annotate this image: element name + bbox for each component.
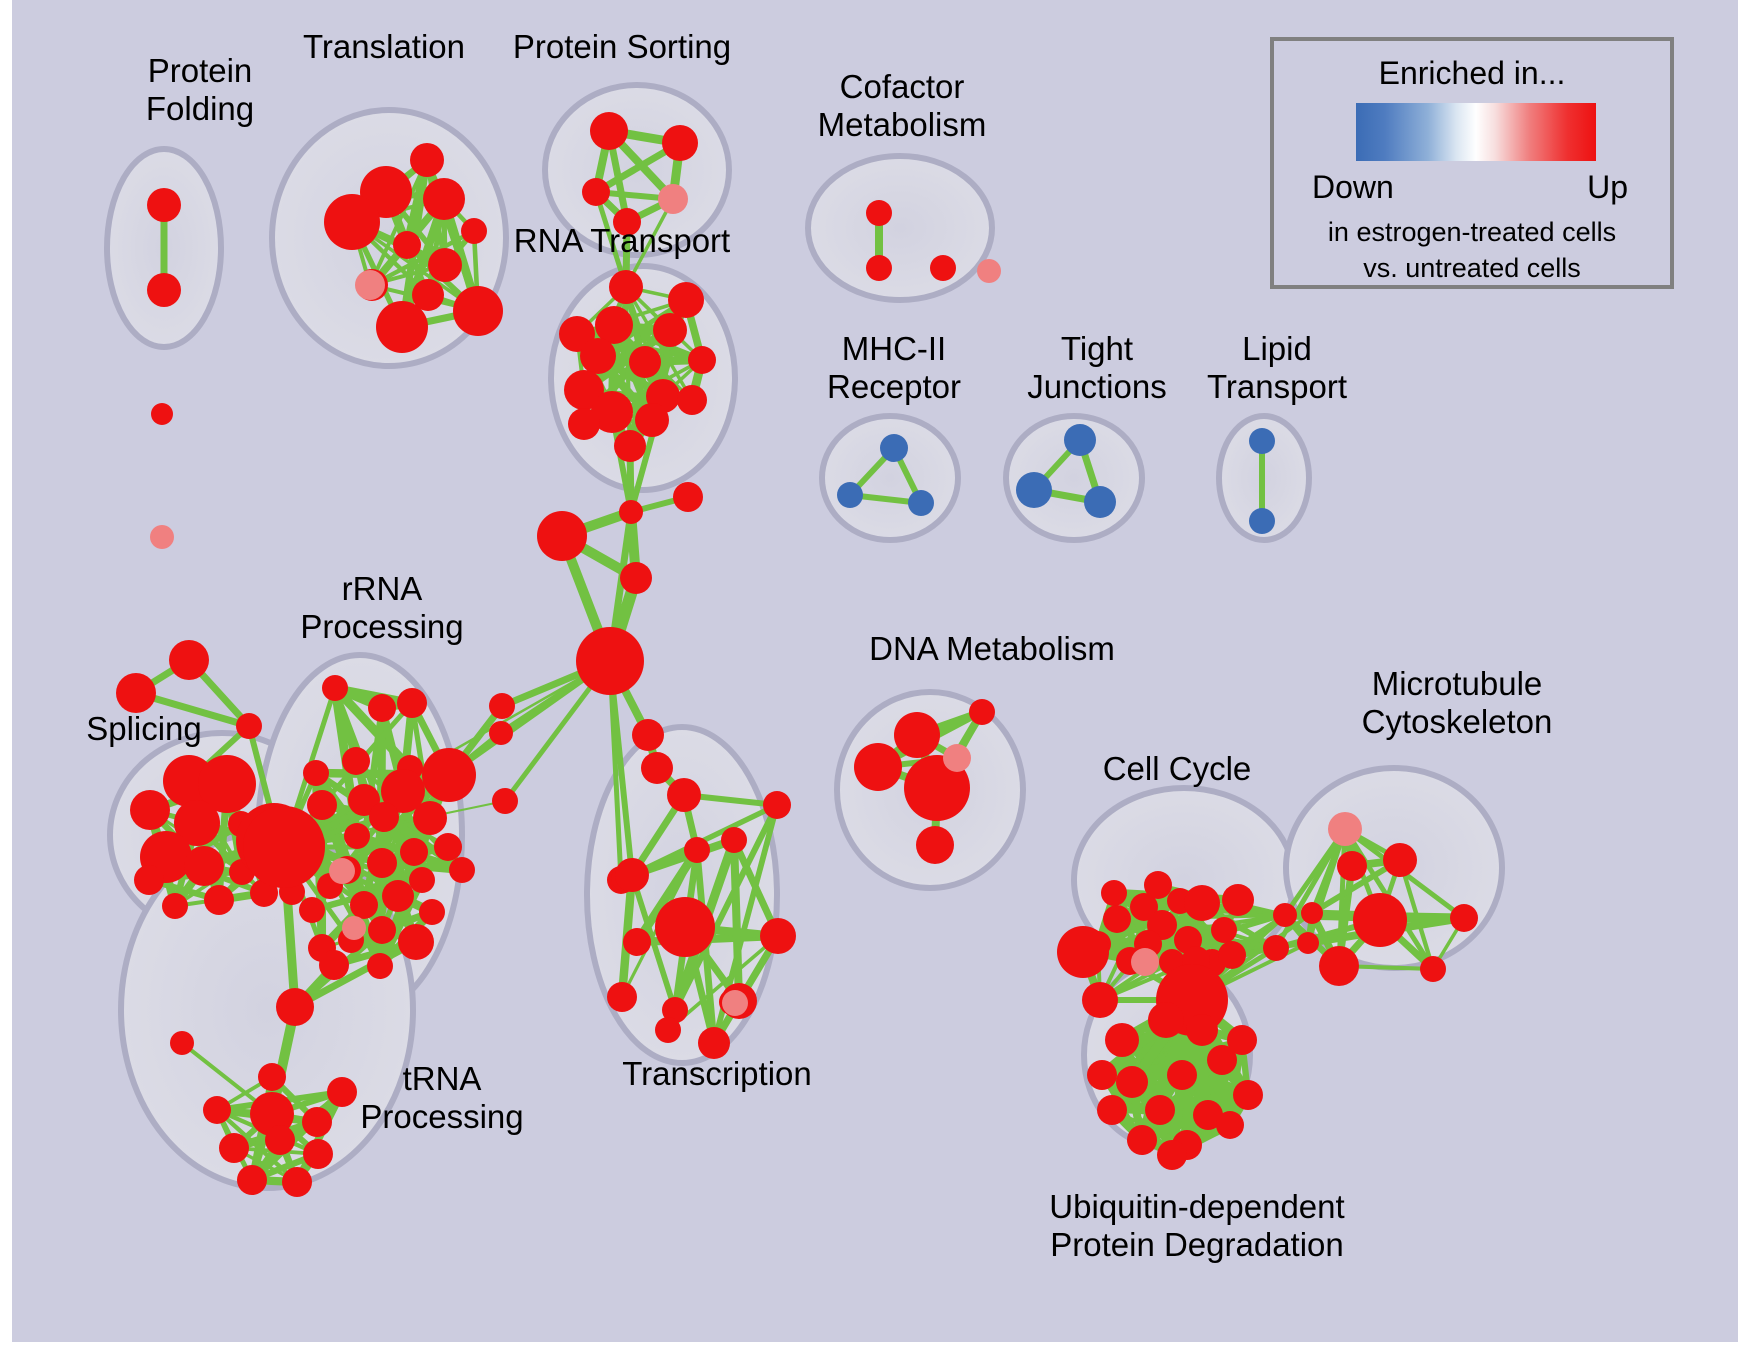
- network-node: [423, 178, 465, 220]
- network-node: [492, 788, 518, 814]
- network-node: [1263, 935, 1289, 961]
- network-node: [1084, 486, 1116, 518]
- network-node: [662, 125, 698, 161]
- color-scale-bar: [1356, 103, 1596, 161]
- network-node: [1103, 905, 1131, 933]
- network-node: [854, 743, 902, 791]
- network-node: [1233, 1080, 1263, 1110]
- network-node: [576, 627, 644, 695]
- cluster-label-cell-cycle: Cell Cycle: [1052, 750, 1302, 788]
- network-node: [382, 880, 414, 912]
- network-node: [1420, 956, 1446, 982]
- network-node: [1087, 1060, 1117, 1090]
- network-node: [1211, 917, 1237, 943]
- network-node: [422, 748, 476, 802]
- network-node: [655, 1017, 681, 1043]
- network-node: [582, 178, 610, 206]
- cluster-label-protein-sorting: Protein Sorting: [452, 28, 792, 66]
- network-node: [1353, 893, 1407, 947]
- network-node: [632, 719, 664, 751]
- network-node: [1057, 926, 1109, 978]
- network-node: [1319, 946, 1359, 986]
- network-node: [1127, 1125, 1157, 1155]
- network-node: [489, 693, 515, 719]
- network-node: [1301, 902, 1323, 924]
- network-node: [620, 562, 652, 594]
- network-node: [837, 482, 863, 508]
- network-node: [1218, 941, 1246, 969]
- network-node: [147, 273, 181, 307]
- legend-down-label: Down: [1312, 169, 1394, 206]
- network-node: [623, 928, 651, 956]
- network-node: [258, 1063, 286, 1091]
- cluster-label-splicing: Splicing: [54, 710, 234, 748]
- network-node: [977, 259, 1001, 283]
- network-node: [1273, 903, 1297, 927]
- network-node: [969, 699, 995, 725]
- network-node: [344, 823, 370, 849]
- network-node: [1144, 871, 1172, 899]
- cluster-label-rrna-processing: rRNA Processing: [252, 570, 512, 646]
- network-node: [1082, 982, 1118, 1018]
- network-node: [265, 1125, 295, 1155]
- network-node: [400, 838, 428, 866]
- cluster-cofactor-metabolism: [808, 156, 992, 300]
- network-node: [369, 802, 399, 832]
- network-node: [763, 791, 791, 819]
- network-node: [619, 500, 643, 524]
- cluster-label-cofactor-metabolism: Cofactor Metabolism: [752, 68, 1052, 144]
- network-node: [1016, 472, 1052, 508]
- cluster-label-transcription: Transcription: [572, 1055, 862, 1093]
- network-node: [299, 897, 325, 923]
- network-node: [393, 231, 421, 259]
- network-node: [329, 858, 355, 884]
- network-node: [219, 1133, 249, 1163]
- network-node: [614, 430, 646, 462]
- network-node: [673, 482, 703, 512]
- network-node: [203, 1096, 231, 1124]
- network-node: [1297, 932, 1319, 954]
- network-node: [236, 713, 262, 739]
- network-node: [609, 270, 643, 304]
- network-node: [615, 858, 649, 892]
- network-node: [150, 525, 174, 549]
- network-node: [303, 1139, 333, 1169]
- network-node: [866, 200, 892, 226]
- network-node: [1328, 812, 1362, 846]
- network-node: [303, 760, 329, 786]
- network-node: [916, 826, 954, 864]
- legend-box: Enriched in... Down Up in estrogen-treat…: [1270, 37, 1674, 289]
- network-node: [307, 790, 337, 820]
- legend-caption-line2: vs. untreated cells: [1274, 253, 1670, 284]
- cluster-label-ubiquitin-protein-degradation: Ubiquitin-dependent Protein Degradation: [987, 1188, 1407, 1264]
- network-node: [1186, 1014, 1218, 1046]
- network-node: [282, 1167, 312, 1197]
- network-node: [1216, 1111, 1244, 1139]
- network-node: [1249, 508, 1275, 534]
- network-node: [116, 673, 156, 713]
- network-node: [434, 833, 462, 861]
- network-node: [590, 112, 628, 150]
- network-node: [419, 899, 445, 925]
- network-node: [410, 143, 444, 177]
- network-node: [342, 916, 366, 940]
- network-node: [677, 385, 707, 415]
- network-node: [930, 255, 956, 281]
- legend-title: Enriched in...: [1274, 55, 1670, 92]
- network-node: [1131, 948, 1159, 976]
- network-node: [1145, 1095, 1175, 1125]
- network-node: [894, 712, 940, 758]
- network-node: [324, 194, 380, 250]
- network-node: [130, 790, 170, 830]
- network-node: [413, 801, 447, 835]
- network-node: [607, 982, 637, 1012]
- network-node: [204, 885, 234, 915]
- network-node: [1116, 1066, 1148, 1098]
- network-node: [1249, 428, 1275, 454]
- network-node: [722, 990, 748, 1016]
- legend-up-label: Up: [1587, 169, 1628, 206]
- network-node: [667, 778, 701, 812]
- network-node: [1157, 1140, 1187, 1170]
- network-node: [184, 846, 224, 886]
- legend-caption-line1: in estrogen-treated cells: [1274, 217, 1670, 248]
- network-node: [1450, 904, 1478, 932]
- network-node: [668, 282, 704, 318]
- network-node: [641, 752, 673, 784]
- network-node: [658, 184, 688, 214]
- network-node: [1148, 1002, 1184, 1038]
- network-edge: [734, 840, 739, 1001]
- cluster-label-lipid-transport: Lipid Transport: [1157, 330, 1397, 406]
- network-node: [655, 897, 715, 957]
- cluster-label-microtubule-cytoskeleton: Microtubule Cytoskeleton: [1292, 665, 1622, 741]
- network-node: [760, 918, 796, 954]
- network-node: [1064, 424, 1096, 456]
- network-node: [453, 286, 503, 336]
- network-node: [322, 675, 348, 701]
- network-node: [1101, 880, 1127, 906]
- figure-canvas: Protein FoldingTranslationProtein Sortin…: [0, 0, 1750, 1360]
- network-node: [367, 848, 397, 878]
- network-node: [147, 188, 181, 222]
- network-node: [237, 1165, 267, 1195]
- network-node: [653, 313, 687, 347]
- network-node: [134, 865, 164, 895]
- network-node: [1337, 851, 1367, 881]
- network-node: [635, 403, 669, 437]
- network-node: [397, 688, 427, 718]
- network-node: [169, 640, 209, 680]
- network-node: [866, 255, 892, 281]
- network-node: [449, 857, 475, 883]
- network-node: [376, 301, 428, 353]
- network-node: [170, 1031, 194, 1055]
- network-node: [684, 837, 710, 863]
- network-node: [880, 434, 908, 462]
- network-node: [409, 867, 435, 893]
- cluster-label-rna-transport: RNA Transport: [452, 222, 792, 260]
- network-node: [688, 346, 716, 374]
- network-node: [537, 511, 587, 561]
- network-node: [350, 891, 378, 919]
- network-node: [1167, 1060, 1197, 1090]
- network-node: [1105, 1023, 1139, 1057]
- network-node: [342, 747, 370, 775]
- network-node: [243, 806, 325, 888]
- network-node: [721, 827, 747, 853]
- network-node: [568, 408, 600, 440]
- network-node: [398, 924, 434, 960]
- network-node: [1227, 1025, 1257, 1055]
- network-node: [355, 270, 385, 300]
- network-node: [162, 893, 188, 919]
- network-node: [1383, 843, 1417, 877]
- network-node: [1184, 885, 1220, 921]
- network-node: [489, 721, 513, 745]
- cluster-label-dna-metabolism: DNA Metabolism: [812, 630, 1172, 668]
- network-node: [580, 338, 616, 374]
- network-background: Protein FoldingTranslationProtein Sortin…: [12, 0, 1738, 1342]
- network-node: [319, 950, 349, 980]
- network-node: [1222, 884, 1254, 916]
- network-node: [151, 403, 173, 425]
- network-node: [629, 346, 661, 378]
- network-node: [276, 988, 314, 1026]
- network-node: [908, 490, 934, 516]
- cluster-label-trna-processing: tRNA Processing: [312, 1060, 572, 1136]
- network-node: [367, 953, 393, 979]
- network-node: [368, 916, 396, 944]
- network-node: [1097, 1095, 1127, 1125]
- network-node: [943, 744, 971, 772]
- network-node: [368, 694, 396, 722]
